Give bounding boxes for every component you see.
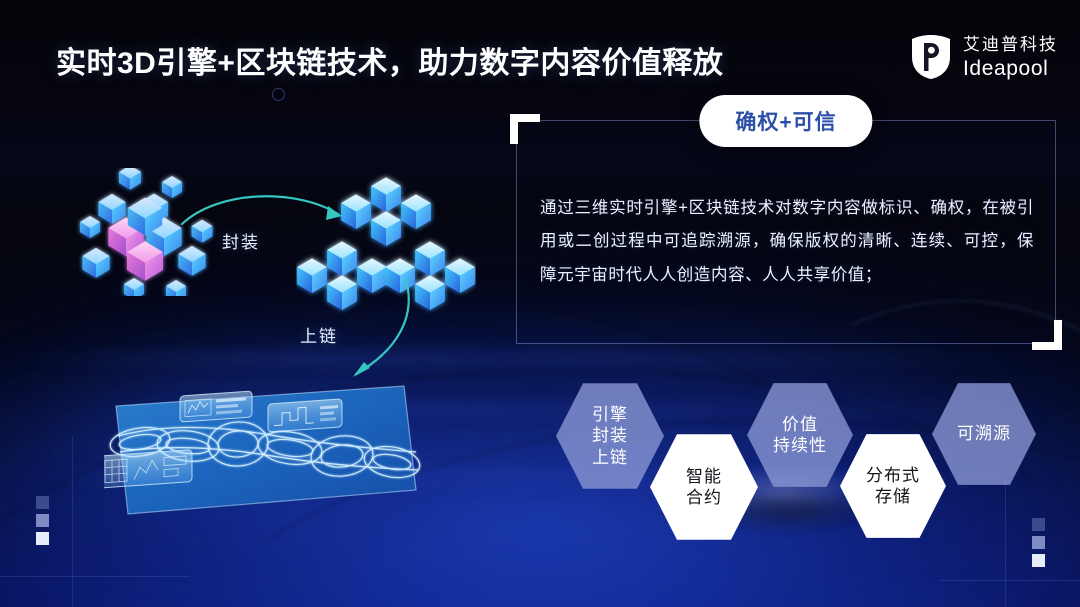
decorative-squares-right <box>1032 518 1045 567</box>
decor-square-dim <box>36 496 49 509</box>
decor-square-mid <box>36 514 49 527</box>
brand-name-cn: 艾迪普科技 <box>963 36 1058 53</box>
hexagon-label: 智能 合约 <box>686 466 722 509</box>
blockchain-cubes-illustration <box>296 158 476 318</box>
flow-label-encapsulate: 封装 <box>222 228 260 253</box>
info-panel: 确权+可信 通过三维实时引擎+区块链技术对数字内容做标识、确权，在被引用或二创过… <box>516 120 1056 344</box>
grid-line-vertical-right <box>1005 480 1006 607</box>
corner-bracket-top-left <box>510 114 540 144</box>
slide-canvas: 实时3D引擎+区块链技术，助力数字内容价值释放 艾迪普科技 Ideapool <box>0 0 1080 607</box>
grid-line-vertical-left <box>72 436 73 607</box>
decor-square-mid <box>1032 536 1045 549</box>
page-title: 实时3D引擎+区块链技术，助力数字内容价值释放 <box>56 38 723 82</box>
brand-name-en: Ideapool <box>963 58 1058 79</box>
hexagon-label: 分布式 存储 <box>866 465 920 508</box>
brand-logo: 艾迪普科技 Ideapool <box>909 34 1058 80</box>
decor-square-bright <box>1032 554 1045 567</box>
grid-line-horizontal-right <box>940 580 1080 581</box>
grid-line-horizontal-left <box>0 576 190 577</box>
slide-header: 实时3D引擎+区块链技术，助力数字内容价值释放 艾迪普科技 Ideapool <box>0 0 1080 104</box>
blockchain-plane-illustration <box>104 378 428 528</box>
panel-badge-label: 确权+可信 <box>735 111 836 134</box>
hexagon-label: 引擎 封装 上链 <box>592 404 628 468</box>
scattered-cubes-illustration <box>76 168 226 296</box>
hexagon-label: 可溯源 <box>957 423 1011 444</box>
corner-bracket-bottom-right <box>1032 320 1062 350</box>
brand-text: 艾迪普科技 Ideapool <box>963 36 1058 79</box>
decorative-circle-icon <box>272 88 285 101</box>
light-band <box>0 352 1080 364</box>
panel-body-text: 通过三维实时引擎+区块链技术对数字内容做标识、确权，在被引用或二创过程中可追踪溯… <box>540 192 1034 292</box>
decor-square-bright <box>36 532 49 545</box>
ideapool-shield-icon <box>909 34 953 80</box>
flow-label-onchain: 上链 <box>300 322 338 347</box>
hexagon-label: 价值 持续性 <box>773 414 827 457</box>
decor-square-dim <box>1032 518 1045 531</box>
decorative-squares-left <box>36 496 49 545</box>
